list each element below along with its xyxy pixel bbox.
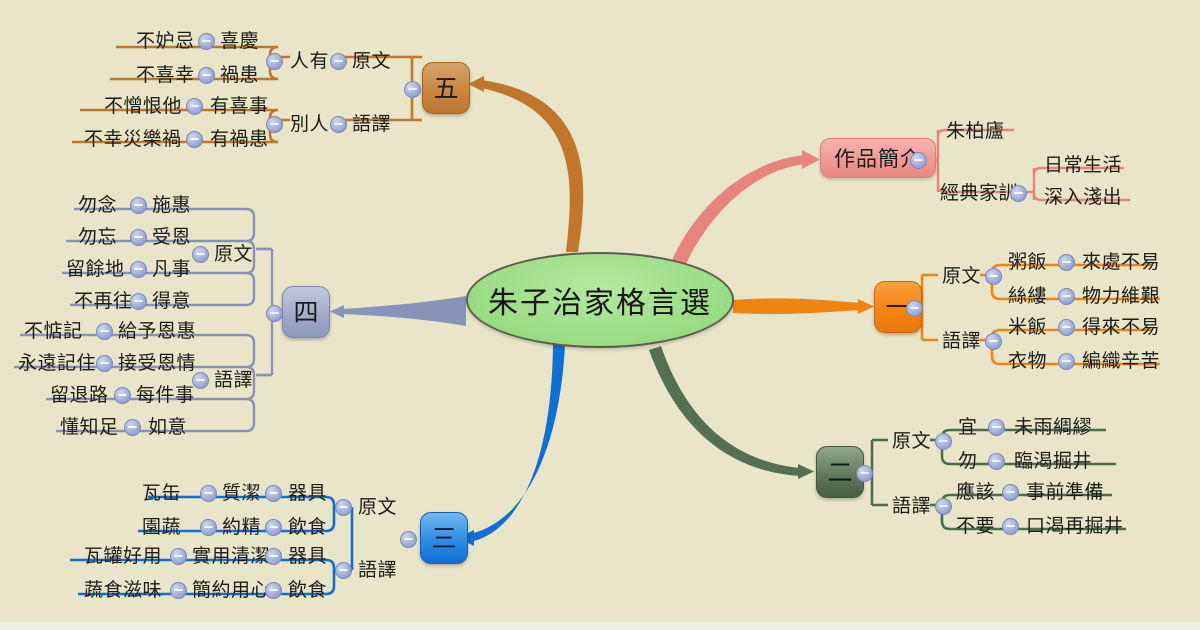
collapse-icon-three-g0-r0b[interactable] xyxy=(265,485,282,502)
five-group-0-mid[interactable]: 人有 xyxy=(290,46,329,73)
five-group-1-label[interactable]: 語譯 xyxy=(352,109,391,136)
five-g0-r1-b[interactable]: 禍患 xyxy=(220,60,259,87)
one-g1-r0-b[interactable]: 得來不易 xyxy=(1082,312,1160,339)
collapse-icon-three-g1-r0b[interactable] xyxy=(265,548,282,565)
collapse-icon-four-g0-r1[interactable] xyxy=(130,229,147,246)
five-g1-r1-b[interactable]: 有禍患 xyxy=(210,124,269,151)
five-g0-r0-a[interactable]: 不妒忌 xyxy=(136,26,195,53)
collapse-icon-four-yuanwen[interactable] xyxy=(192,246,209,263)
one-arrow-icon xyxy=(858,299,874,314)
collapse-icon-one-g0-r0[interactable] xyxy=(1058,254,1075,271)
collapse-icon-four[interactable] xyxy=(266,305,283,322)
node-five-label: 五 xyxy=(433,76,458,101)
collapse-icon-five-g1-mid[interactable] xyxy=(266,116,283,133)
collapse-icon-four-g0-r3[interactable] xyxy=(130,293,147,310)
node-two-label: 二 xyxy=(827,460,852,485)
two-g0-r1-a[interactable]: 勿 xyxy=(958,446,978,473)
node-four[interactable]: 四 xyxy=(282,286,330,338)
collapse-icon-intro-child2[interactable] xyxy=(1010,185,1027,202)
collapse-icon-two[interactable] xyxy=(856,465,873,482)
three-g0-r0-a[interactable]: 瓦缶 xyxy=(142,478,181,505)
collapse-icon-three-g0-r1a[interactable] xyxy=(200,519,217,536)
two-g0-r0-b[interactable]: 未雨綢繆 xyxy=(1014,412,1092,439)
two-arrow-icon xyxy=(798,464,814,479)
two-g1-r1-b[interactable]: 口渴再掘井 xyxy=(1026,511,1124,538)
root-to-one-connector xyxy=(733,298,862,314)
five-g0-r1-a[interactable]: 不喜幸 xyxy=(136,60,195,87)
two-g1-r0-a[interactable]: 應該 xyxy=(956,477,995,504)
collapse-icon-five-yuyi[interactable] xyxy=(330,116,347,133)
intro-grandchild-1[interactable]: 日常生活 xyxy=(1044,150,1122,177)
collapse-icon-one[interactable] xyxy=(906,300,923,317)
collapse-icon-five-g1-r1[interactable] xyxy=(186,131,203,148)
four-g0-r0-b[interactable]: 施惠 xyxy=(152,190,191,217)
one-g0-r0-a[interactable]: 粥飯 xyxy=(1008,247,1047,274)
two-g1-r1-a[interactable]: 不要 xyxy=(956,511,995,538)
five-group-1-mid[interactable]: 別人 xyxy=(290,109,329,136)
four-g1-r3-a[interactable]: 懂知足 xyxy=(60,412,119,439)
collapse-icon-one-yuanwen[interactable] xyxy=(985,268,1002,285)
five-g1-r0-a[interactable]: 不憎恨他 xyxy=(104,91,182,118)
one-spine xyxy=(922,275,938,340)
collapse-icon-three-g0-r0a[interactable] xyxy=(200,485,217,502)
root-label: 朱子治家格言選 xyxy=(488,278,712,322)
one-g0-r1-a[interactable]: 絲縷 xyxy=(1008,281,1047,308)
node-three[interactable]: 三 xyxy=(420,512,468,564)
four-g1-r0-a[interactable]: 不惦記 xyxy=(24,316,83,343)
collapse-icon-five[interactable] xyxy=(404,81,421,98)
two-spine xyxy=(872,440,888,505)
two-group-1-label[interactable]: 語譯 xyxy=(892,491,931,518)
three-g1-r1-b[interactable]: 簡約用心 xyxy=(192,575,270,602)
five-g1-r1-a[interactable]: 不幸災樂禍 xyxy=(84,124,182,151)
mindmap-canvas: 朱子治家格言選 作品簡介 朱柏廬 經典家訓 日常生活 深入淺出 一 原文 粥飯 … xyxy=(0,0,1200,630)
collapse-icon-four-g1-r3[interactable] xyxy=(124,419,141,436)
three-g1-r0-a[interactable]: 瓦罐好用 xyxy=(84,541,162,568)
three-g0-r0-c[interactable]: 器具 xyxy=(288,478,327,505)
collapse-icon-two-g0-r1[interactable] xyxy=(988,453,1005,470)
one-group-0-label[interactable]: 原文 xyxy=(942,261,981,288)
three-g1-r1-c[interactable]: 飲食 xyxy=(288,575,327,602)
collapse-icon-four-g1-r1[interactable] xyxy=(96,355,113,372)
three-g1-r0-c[interactable]: 器具 xyxy=(288,541,327,568)
collapse-icon-three-g1-r1b[interactable] xyxy=(265,582,282,599)
four-arrow-icon xyxy=(330,305,344,318)
one-g1-r0-a[interactable]: 米飯 xyxy=(1008,312,1047,339)
four-g0-r3-a[interactable]: 不再往 xyxy=(74,286,133,313)
collapse-icon-two-yuanwen[interactable] xyxy=(935,433,952,450)
one-g0-r1-b[interactable]: 物力維艱 xyxy=(1082,281,1160,308)
three-g1-r1-a[interactable]: 蔬食滋味 xyxy=(84,575,162,602)
intro-grandchild-2[interactable]: 深入淺出 xyxy=(1044,182,1122,209)
four-g1-r1-b[interactable]: 接受恩情 xyxy=(118,348,196,375)
collapse-icon-five-g0-mid[interactable] xyxy=(266,53,283,70)
three-g0-r0-b[interactable]: 質潔 xyxy=(222,478,261,505)
node-five[interactable]: 五 xyxy=(422,62,470,114)
two-g1-r0-b[interactable]: 事前準備 xyxy=(1026,477,1104,504)
four-g0-r2-a[interactable]: 留餘地 xyxy=(66,254,125,281)
two-g0-r0-a[interactable]: 宜 xyxy=(958,412,978,439)
collapse-icon-three-yuanwen[interactable] xyxy=(335,499,352,516)
collapse-icon-one-yuyi[interactable] xyxy=(985,333,1002,350)
two-group-0-label[interactable]: 原文 xyxy=(892,426,931,453)
four-group-1-label[interactable]: 語譯 xyxy=(214,365,253,392)
collapse-icon-intro[interactable] xyxy=(910,152,927,169)
four-g1-r1-a[interactable]: 永遠記住 xyxy=(18,348,96,375)
three-g1-r0-b[interactable]: 實用清潔 xyxy=(192,541,270,568)
root-to-five-connector xyxy=(482,80,583,252)
four-g0-r0-a[interactable]: 勿念 xyxy=(78,190,117,217)
root-to-two-connector xyxy=(649,346,800,476)
three-g0-r1-b[interactable]: 約精 xyxy=(222,512,261,539)
collapse-icon-three[interactable] xyxy=(400,531,417,548)
collapse-icon-five-g0-r0[interactable] xyxy=(198,33,215,50)
four-group-0-label[interactable]: 原文 xyxy=(214,239,253,266)
intro-child-2[interactable]: 經典家訓 xyxy=(940,178,1018,205)
three-g0-r1-c[interactable]: 飲食 xyxy=(288,512,327,539)
collapse-icon-five-g1-r0[interactable] xyxy=(186,98,203,115)
four-g1-r2-a[interactable]: 留退路 xyxy=(50,380,109,407)
one-g1-r1-a[interactable]: 衣物 xyxy=(1008,346,1047,373)
intro-grandchild-wire xyxy=(1026,168,1034,200)
collapse-icon-one-g0-r1[interactable] xyxy=(1058,288,1075,305)
three-spine xyxy=(336,507,352,570)
collapse-icon-three-g0-r1b[interactable] xyxy=(265,519,282,536)
collapse-icon-five-yuanwen[interactable] xyxy=(330,53,347,70)
node-three-label: 三 xyxy=(431,526,456,551)
four-g0-r3-b[interactable]: 得意 xyxy=(152,286,191,313)
collapse-icon-two-yuyi[interactable] xyxy=(935,498,952,515)
one-g0-r0-b[interactable]: 來處不易 xyxy=(1082,247,1160,274)
five-g0-r0-b[interactable]: 喜慶 xyxy=(220,26,259,53)
two-g0-r1-b[interactable]: 臨渴掘井 xyxy=(1014,446,1092,473)
one-group-1-label[interactable]: 語譯 xyxy=(942,326,981,353)
five-g1-r0-b[interactable]: 有喜事 xyxy=(210,91,269,118)
collapse-icon-one-g1-r0[interactable] xyxy=(1058,319,1075,336)
collapse-icon-three-g1-r0a[interactable] xyxy=(170,548,187,565)
four-g0-r1-a[interactable]: 勿忘 xyxy=(78,222,117,249)
three-group-0-label[interactable]: 原文 xyxy=(358,492,397,519)
four-g0-r1-b[interactable]: 受恩 xyxy=(152,222,191,249)
root-node[interactable]: 朱子治家格言選 xyxy=(466,252,734,348)
collapse-icon-two-g1-r0[interactable] xyxy=(1002,484,1019,501)
root-to-three-connector xyxy=(470,344,565,542)
collapse-icon-four-g0-r0[interactable] xyxy=(130,197,147,214)
collapse-icon-four-g1-r0[interactable] xyxy=(96,323,113,340)
four-g1-r2-b[interactable]: 每件事 xyxy=(136,380,195,407)
three-g0-r1-a[interactable]: 園蔬 xyxy=(142,512,181,539)
five-group-0-label[interactable]: 原文 xyxy=(352,46,391,73)
node-four-label: 四 xyxy=(293,300,318,325)
one-g1-r1-b[interactable]: 編織辛苦 xyxy=(1082,346,1160,373)
three-group-1-label[interactable]: 語譯 xyxy=(358,555,397,582)
collapse-icon-five-g0-r1[interactable] xyxy=(198,67,215,84)
collapse-icon-three-g1-r1a[interactable] xyxy=(170,582,187,599)
collapse-icon-two-g0-r0[interactable] xyxy=(988,419,1005,436)
collapse-icon-four-g1-r2[interactable] xyxy=(114,387,131,404)
bottom-strip xyxy=(0,622,1200,630)
collapse-icon-two-g1-r1[interactable] xyxy=(1002,518,1019,535)
four-g1-r0-b[interactable]: 給予恩惠 xyxy=(118,316,196,343)
node-intro-label: 作品簡介 xyxy=(834,143,922,173)
collapse-icon-three-yuyi[interactable] xyxy=(335,562,352,579)
four-g0-r2-b[interactable]: 凡事 xyxy=(152,254,191,281)
root-to-four-connector xyxy=(342,296,466,326)
four-g1-r3-b[interactable]: 如意 xyxy=(148,412,187,439)
collapse-icon-one-g1-r1[interactable] xyxy=(1058,353,1075,370)
collapse-icon-four-g0-r2[interactable] xyxy=(130,261,147,278)
five-arrow-icon xyxy=(468,76,484,92)
intro-arrow-icon xyxy=(802,150,820,169)
intro-child-1[interactable]: 朱柏廬 xyxy=(946,116,1005,143)
